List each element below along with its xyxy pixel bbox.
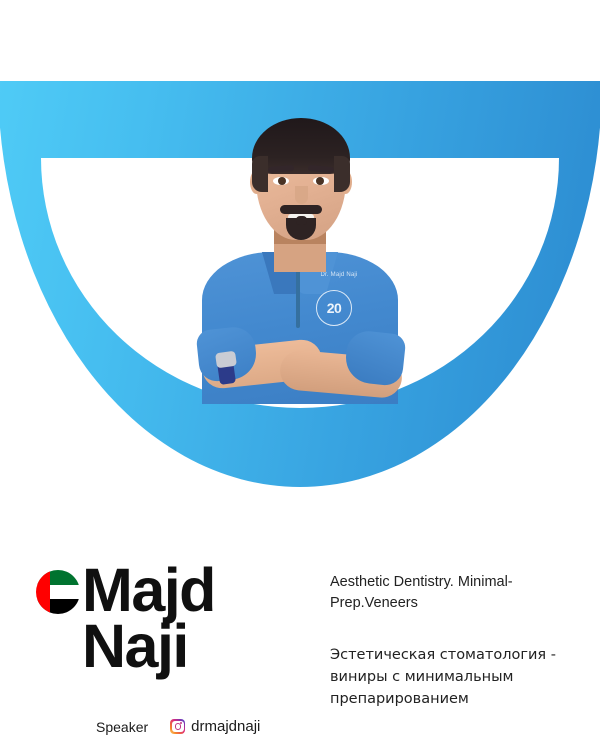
portrait-soul-patch	[296, 216, 307, 225]
description-english: Aesthetic Dentistry. Minimal-Prep.Veneer…	[330, 572, 580, 614]
instagram-handle-link[interactable]: drmajdnaji	[170, 718, 260, 735]
speaker-first-name: Majd	[82, 562, 306, 618]
shirt-anniversary-badge: 20	[316, 290, 352, 326]
portrait-shirt-placket	[296, 266, 300, 328]
flag-band-red	[36, 570, 50, 614]
portrait-nose	[295, 186, 308, 204]
speaker-description-block: Aesthetic Dentistry. Minimal-Prep.Veneer…	[330, 572, 580, 710]
hero-section: Dr. Majd Naji 20	[0, 0, 600, 500]
shirt-logo-text: Dr. Majd Naji	[308, 272, 370, 286]
portrait-iris-right	[316, 177, 324, 185]
speaker-portrait: Dr. Majd Naji 20	[196, 104, 404, 404]
speaker-name-block: Majd Naji	[36, 562, 306, 674]
instagram-handle-text[interactable]: drmajdnaji	[191, 718, 260, 735]
uae-flag-icon	[36, 570, 80, 614]
portrait-hair-fade-left	[252, 156, 268, 192]
instagram-icon[interactable]	[170, 719, 185, 734]
speaker-role-label: Speaker	[96, 719, 148, 735]
speaker-last-name: Naji	[82, 618, 306, 674]
portrait-moustache	[280, 205, 322, 214]
speaker-credit-row: Speaker drmajdnaji	[96, 718, 260, 735]
info-section: Majd Naji Speaker drmajdnaji Aesthetic D…	[0, 500, 600, 750]
portrait-iris-left	[278, 177, 286, 185]
description-russian: Эстетическая стоматология - виниры с мин…	[330, 614, 580, 710]
portrait-watch-face	[215, 351, 237, 369]
portrait-hair-fade-right	[334, 156, 350, 192]
